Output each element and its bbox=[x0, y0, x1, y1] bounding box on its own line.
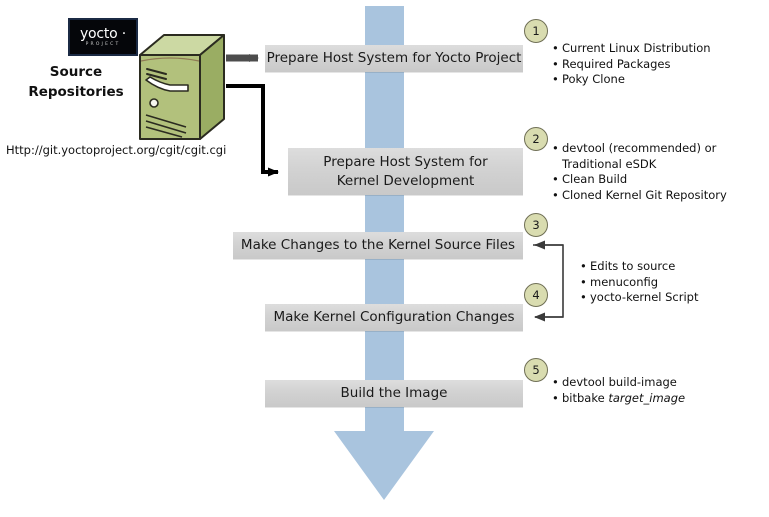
bullet-text: menuconfig bbox=[590, 275, 760, 291]
list-item: • Poky Clone bbox=[552, 72, 762, 88]
step-circle-2: 2 bbox=[524, 127, 548, 151]
list-item: • Required Packages bbox=[552, 57, 762, 73]
server-tower-icon bbox=[136, 33, 228, 145]
bullet-icon: • bbox=[580, 290, 590, 306]
list-item: • Edits to source bbox=[580, 259, 760, 275]
bullet-icon: • bbox=[552, 391, 562, 407]
bullet-list-step-1: • Current Linux Distribution • Required … bbox=[552, 41, 762, 88]
bullet-icon: • bbox=[580, 259, 590, 275]
list-item: • Clean Build bbox=[552, 172, 752, 188]
source-repository-url: Http://git.yoctoproject.org/cgit/cgit.cg… bbox=[6, 143, 226, 157]
step-circle-5: 5 bbox=[524, 358, 548, 382]
bullet-text: devtool (recommended) or Traditional eSD… bbox=[562, 141, 752, 172]
bullet-icon: • bbox=[552, 141, 562, 157]
list-item: • bitbake target_image bbox=[552, 391, 752, 407]
process-box-step-2[interactable]: Prepare Host System for Kernel Developme… bbox=[288, 148, 523, 195]
bullet-icon: • bbox=[552, 57, 562, 73]
bullet-text-plain: bitbake bbox=[562, 391, 608, 405]
process-box-step-4[interactable]: Make Kernel Configuration Changes bbox=[265, 304, 523, 331]
bullet-icon: • bbox=[552, 72, 562, 88]
bullet-text: Required Packages bbox=[562, 57, 762, 73]
process-box-step-1[interactable]: Prepare Host System for Yocto Project bbox=[265, 45, 523, 72]
list-item: • Cloned Kernel Git Repository bbox=[552, 188, 752, 204]
bullet-list-steps-3-4: • Edits to source • menuconfig • yocto-k… bbox=[580, 259, 760, 306]
bullet-icon: • bbox=[552, 188, 562, 204]
source-label-line1: Source bbox=[12, 62, 140, 82]
list-item: • devtool (recommended) or Traditional e… bbox=[552, 141, 752, 172]
yocto-project-logo: yocto · PROJECT bbox=[68, 18, 138, 56]
list-item: • yocto-kernel Script bbox=[580, 290, 760, 306]
bullet-text: devtool build-image bbox=[562, 375, 752, 391]
list-item: • Current Linux Distribution bbox=[552, 41, 762, 57]
list-item: • menuconfig bbox=[580, 275, 760, 291]
bullet-icon: • bbox=[552, 41, 562, 57]
bullet-text: Poky Clone bbox=[562, 72, 762, 88]
bullet-list-step-5: • devtool build-image • bitbake target_i… bbox=[552, 375, 752, 406]
step-circle-1: 1 bbox=[524, 19, 548, 43]
bullet-list-step-2: • devtool (recommended) or Traditional e… bbox=[552, 141, 752, 203]
bullet-text: Clean Build bbox=[562, 172, 752, 188]
bullet-text: Cloned Kernel Git Repository bbox=[562, 188, 752, 204]
step-circle-4: 4 bbox=[524, 283, 548, 307]
source-label-line2: Repositories bbox=[12, 82, 140, 102]
process-box-step-5[interactable]: Build the Image bbox=[265, 380, 523, 407]
bullet-text: bitbake target_image bbox=[562, 391, 752, 407]
source-repositories-label: Source Repositories bbox=[12, 62, 140, 102]
bullet-text: Edits to source bbox=[590, 259, 760, 275]
bullet-icon: • bbox=[580, 275, 590, 291]
step-circle-3: 3 bbox=[524, 213, 548, 237]
list-item: • devtool build-image bbox=[552, 375, 752, 391]
bullet-icon: • bbox=[552, 375, 562, 391]
logo-wordmark: yocto · bbox=[80, 27, 126, 41]
bullet-text: Current Linux Distribution bbox=[562, 41, 762, 57]
logo-subtext: PROJECT bbox=[86, 43, 121, 48]
bullet-text-emphasis: target_image bbox=[608, 391, 685, 405]
bullet-icon: • bbox=[552, 172, 562, 188]
bullet-text: yocto-kernel Script bbox=[590, 290, 760, 306]
diagram-canvas: yocto · PROJECT Source Repositories Http… bbox=[0, 0, 769, 517]
process-box-step-3[interactable]: Make Changes to the Kernel Source Files bbox=[233, 232, 523, 259]
